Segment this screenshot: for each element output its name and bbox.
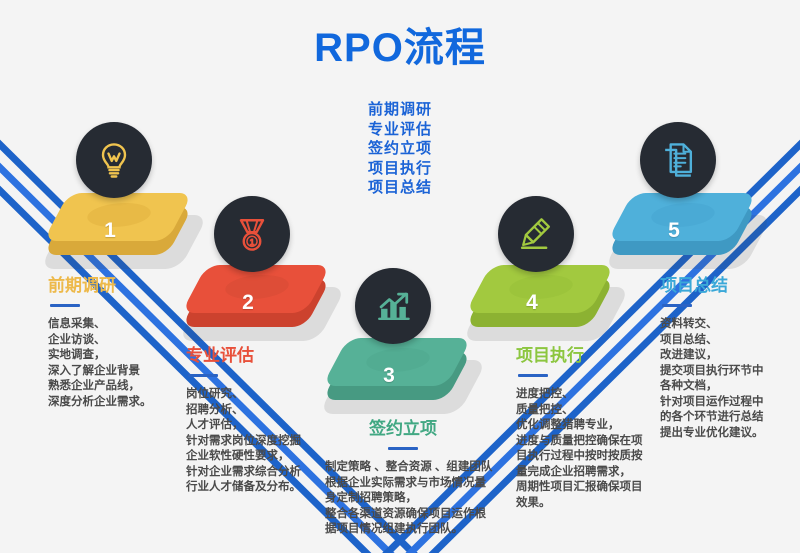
step-number-3: 3 — [327, 364, 451, 388]
step-body-3: 制定策略 、整合资源 、组建团队 根据企业实际需求与市场情况量 身定制招聘策略，… — [325, 460, 503, 538]
body-line: 项目总结、 — [660, 333, 800, 349]
body-line: 据项目情况组建执行团队。 — [325, 522, 503, 538]
step-number-5: 5 — [612, 219, 736, 243]
title-divider — [388, 447, 418, 450]
step-text-5: 项目总结 资料转交、 项目总结、 改进建议， 提交项目执行环节中 各种文档， 针… — [660, 275, 800, 441]
step-body-4: 进度把控、 质量把控、 优化调整猎聘专业， 进度与质量把控确保在项 目执行过程中… — [516, 387, 676, 511]
document-icon[interactable] — [640, 122, 716, 198]
body-line: 进度与质量把控确保在项 — [516, 434, 676, 450]
body-line: 身定制招聘策略， — [325, 491, 503, 507]
body-line: 提交项目执行环节中 — [660, 364, 800, 380]
step-platform-5[interactable]: 5 — [612, 185, 762, 281]
pencil-icon[interactable] — [498, 196, 574, 272]
medal-number: 1 — [250, 238, 255, 247]
step-body-5: 资料转交、 项目总结、 改进建议， 提交项目执行环节中 各种文档， 针对项目运作… — [660, 317, 800, 441]
title-divider — [188, 374, 218, 377]
title-divider — [518, 374, 548, 377]
step-title-4: 项目执行 — [516, 345, 676, 367]
body-line: 整合各渠道资源确保项目运作根 — [325, 507, 503, 523]
step-number-2: 2 — [186, 291, 310, 315]
body-line: 质量把控、 — [516, 403, 676, 419]
step-title-3: 签约立项 — [303, 418, 503, 440]
step-platform-4[interactable]: 4 — [470, 257, 620, 353]
lightbulb-icon[interactable] — [76, 122, 152, 198]
body-line: 周期性项目汇报确保项目 — [516, 480, 676, 496]
step-platform-2[interactable]: 2 — [186, 257, 336, 353]
body-line: 效果。 — [516, 496, 676, 512]
title-divider — [662, 304, 692, 307]
body-line: 量完成企业招聘需求， — [516, 465, 676, 481]
medal-icon[interactable]: 1 — [214, 196, 290, 272]
body-line: 改进建议， — [660, 348, 800, 364]
body-line: 进度把控、 — [516, 387, 676, 403]
body-line: 的各个环节进行总结 — [660, 410, 800, 426]
body-line: 根据企业实际需求与市场情况量 — [325, 476, 503, 492]
body-line: 各种文档， — [660, 379, 800, 395]
step-number-1: 1 — [48, 219, 172, 243]
subtitle-line-1: 前期调研 — [0, 100, 800, 120]
step-title-5: 项目总结 — [660, 275, 800, 297]
body-line: 制定策略 、整合资源 、组建团队 — [325, 460, 503, 476]
page-title: RPO流程 — [0, 26, 800, 70]
body-line: 资料转交、 — [660, 317, 800, 333]
infographic-canvas: RPO流程 前期调研 专业评估 签约立项 项目执行 项目总结 1 前期调研 信息… — [0, 0, 800, 553]
title-divider — [50, 304, 80, 307]
step-platform-1[interactable]: 1 — [48, 185, 198, 281]
step-number-4: 4 — [470, 291, 594, 315]
step-platform-3[interactable]: 3 — [327, 330, 477, 426]
body-line: 针对项目运作过程中 — [660, 395, 800, 411]
body-line: 提出专业优化建议。 — [660, 426, 800, 442]
step-text-3: 签约立项 制定策略 、整合资源 、组建团队 根据企业实际需求与市场情况量 身定制… — [303, 418, 503, 538]
body-line: 目执行过程中按时按质按 — [516, 449, 676, 465]
growth-chart-icon[interactable] — [355, 268, 431, 344]
body-line: 优化调整猎聘专业， — [516, 418, 676, 434]
step-text-4: 项目执行 进度把控、 质量把控、 优化调整猎聘专业， 进度与质量把控确保在项 目… — [516, 345, 676, 511]
